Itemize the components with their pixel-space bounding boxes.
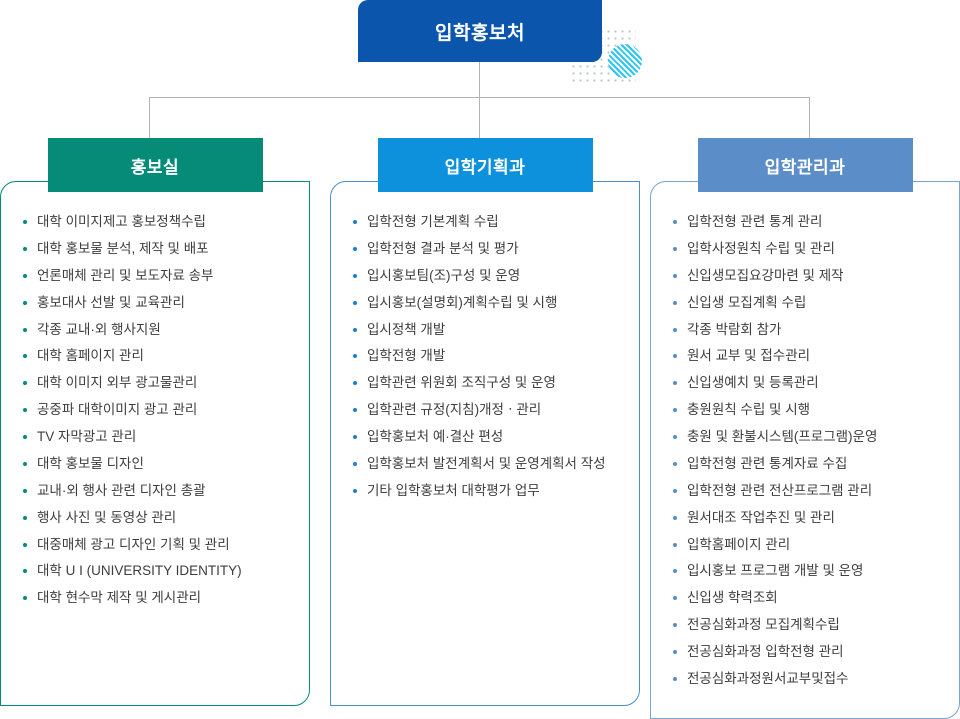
list-item: 신입생예치 및 등록관리 bbox=[673, 375, 949, 392]
list-item: 대학 U I (UNIVERSITY IDENTITY) bbox=[23, 563, 299, 580]
list-item: 입학관련 위원회 조직구성 및 운영 bbox=[353, 375, 629, 392]
list-item: 대학 홈페이지 관리 bbox=[23, 348, 299, 365]
task-list-2: 입학전형 기본계획 수립 입학전형 결과 분석 및 평가 입시홍보팀(조)구성 … bbox=[353, 214, 629, 500]
list-item: 입학전형 관련 통계자료 수집 bbox=[673, 456, 949, 473]
root-node-admissions-office: 입학홍보처 bbox=[358, 0, 602, 62]
list-item: 입학홍보처 예·결산 편성 bbox=[353, 429, 629, 446]
list-item: 전공심화과정 모집계획수립 bbox=[673, 617, 949, 634]
list-item: 교내·외 행사 관련 디자인 총괄 bbox=[23, 483, 299, 500]
list-item: 입학관련 규정(지침)개정ㆍ관리 bbox=[353, 402, 629, 419]
connector-root-vertical bbox=[479, 62, 480, 98]
list-item: 입학전형 관련 전산프로그램 관리 bbox=[673, 483, 949, 500]
list-item: 입시홍보(설명회)계획수립 및 시행 bbox=[353, 295, 629, 312]
task-list-1: 대학 이미지제고 홍보정책수립 대학 홍보물 분석, 제작 및 배포 언론매체 … bbox=[23, 214, 299, 607]
striped-circle-icon bbox=[608, 44, 642, 78]
list-item: TV 자막광고 관리 bbox=[23, 429, 299, 446]
department-task-panel-2: 입학전형 기본계획 수립 입학전형 결과 분석 및 평가 입시홍보팀(조)구성 … bbox=[330, 181, 640, 706]
list-item: 원서대조 작업추진 및 관리 bbox=[673, 510, 949, 527]
list-item: 입학전형 개발 bbox=[353, 348, 629, 365]
list-item: 대학 홍보물 디자인 bbox=[23, 456, 299, 473]
department-header-admissions-planning: 입학기획과 bbox=[378, 138, 593, 192]
list-item: 충원원칙 수립 및 시행 bbox=[673, 402, 949, 419]
list-item: 충원 및 환불시스템(프로그램)운영 bbox=[673, 429, 949, 446]
department-column-3: 입학관리과 입학전형 관련 통계 관리 입학사정원칙 수립 및 관리 신입생모집… bbox=[650, 138, 960, 719]
list-item: 신입생 학력조회 bbox=[673, 590, 949, 607]
department-task-panel-3: 입학전형 관련 통계 관리 입학사정원칙 수립 및 관리 신입생모집요강마련 및… bbox=[650, 181, 960, 719]
connector-branch-2 bbox=[479, 97, 480, 138]
list-item: 대학 이미지제고 홍보정책수립 bbox=[23, 214, 299, 231]
org-chart: 입학홍보처 홍보실 대학 이미지제고 홍보정책수립 대학 홍보물 분석, 제작 … bbox=[0, 0, 960, 702]
department-header-publicity: 홍보실 bbox=[48, 138, 263, 192]
list-item: 원서 교부 및 접수관리 bbox=[673, 348, 949, 365]
list-item: 입시홍보 프로그램 개발 및 운영 bbox=[673, 563, 949, 580]
list-item: 홍보대사 선발 및 교육관리 bbox=[23, 295, 299, 312]
list-item: 입학홍보처 발전계획서 및 운영계획서 작성 bbox=[353, 456, 629, 473]
list-item: 공중파 대학이미지 광고 관리 bbox=[23, 402, 299, 419]
root-node-label: 입학홍보처 bbox=[435, 18, 525, 45]
list-item: 입시홍보팀(조)구성 및 운영 bbox=[353, 268, 629, 285]
connector-branch-3 bbox=[809, 97, 810, 138]
list-item: 입학전형 결과 분석 및 평가 bbox=[353, 241, 629, 258]
department-column-1: 홍보실 대학 이미지제고 홍보정책수립 대학 홍보물 분석, 제작 및 배포 언… bbox=[0, 138, 310, 706]
list-item: 대학 이미지 외부 광고물관리 bbox=[23, 375, 299, 392]
department-title: 홍보실 bbox=[131, 153, 179, 178]
task-list-3: 입학전형 관련 통계 관리 입학사정원칙 수립 및 관리 신입생모집요강마련 및… bbox=[673, 214, 949, 688]
department-column-2: 입학기획과 입학전형 기본계획 수립 입학전형 결과 분석 및 평가 입시홍보팀… bbox=[330, 138, 640, 706]
connector-branch-1 bbox=[149, 97, 150, 138]
list-item: 신입생모집요강마련 및 제작 bbox=[673, 268, 949, 285]
list-item: 입학홈페이지 관리 bbox=[673, 537, 949, 554]
list-item: 대학 현수막 제작 및 게시관리 bbox=[23, 590, 299, 607]
list-item: 대중매체 광고 디자인 기획 및 관리 bbox=[23, 537, 299, 554]
list-item: 언론매체 관리 및 보도자료 송부 bbox=[23, 268, 299, 285]
list-item: 각종 교내·외 행사지원 bbox=[23, 322, 299, 339]
list-item: 입학사정원칙 수립 및 관리 bbox=[673, 241, 949, 258]
department-title: 입학기획과 bbox=[445, 153, 526, 178]
list-item: 입학전형 기본계획 수립 bbox=[353, 214, 629, 231]
list-item: 전공심화과정원서교부및접수 bbox=[673, 671, 949, 688]
department-task-panel-1: 대학 이미지제고 홍보정책수립 대학 홍보물 분석, 제작 및 배포 언론매체 … bbox=[0, 181, 310, 706]
list-item: 입시정책 개발 bbox=[353, 322, 629, 339]
list-item: 입학전형 관련 통계 관리 bbox=[673, 214, 949, 231]
list-item: 각종 박람회 참가 bbox=[673, 322, 949, 339]
list-item: 행사 사진 및 동영상 관리 bbox=[23, 510, 299, 527]
list-item: 전공심화과정 입학전형 관리 bbox=[673, 644, 949, 661]
list-item: 대학 홍보물 분석, 제작 및 배포 bbox=[23, 241, 299, 258]
list-item: 신입생 모집계획 수립 bbox=[673, 295, 949, 312]
department-title: 입학관리과 bbox=[765, 153, 846, 178]
department-header-admissions-management: 입학관리과 bbox=[698, 138, 913, 192]
list-item: 기타 입학홍보처 대학평가 업무 bbox=[353, 483, 629, 500]
